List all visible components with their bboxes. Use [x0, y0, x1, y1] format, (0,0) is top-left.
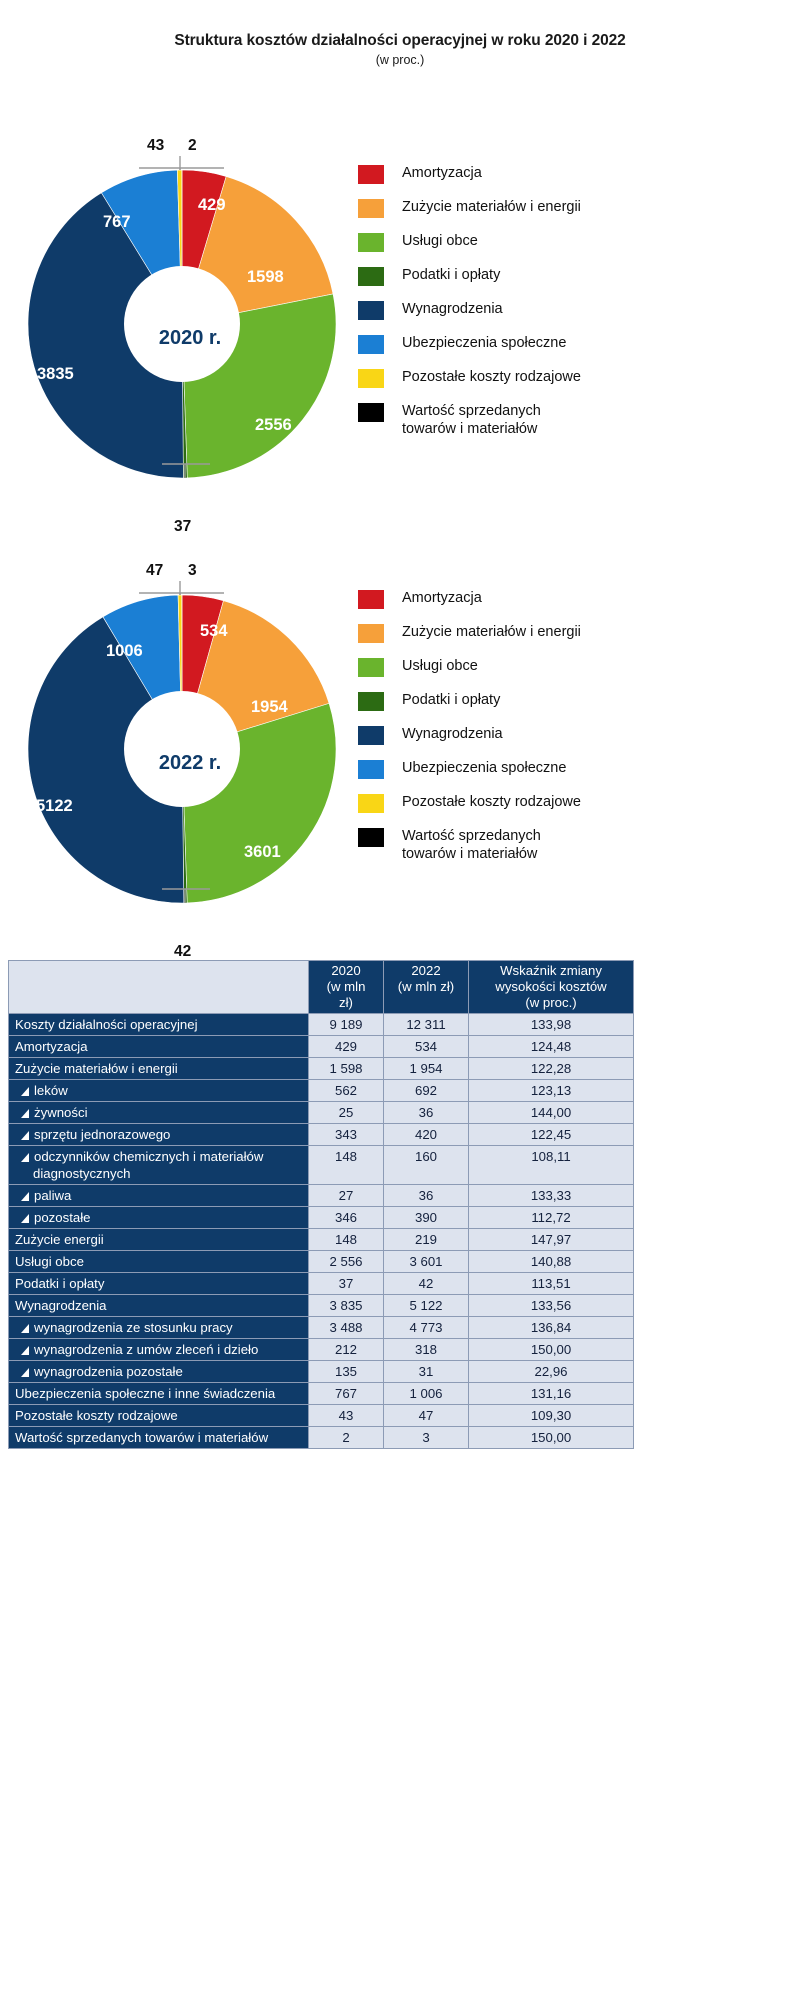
table-cell-2022: 219: [384, 1229, 469, 1251]
table-cell-2020: 37: [309, 1273, 384, 1295]
table-header-2022-line1: 2022: [390, 963, 462, 979]
table-cell-2020: 9 189: [309, 1014, 384, 1036]
legend-2022: Amortyzacja Zużycie materiałów i energii…: [358, 589, 788, 874]
bullet-triangle-icon: [21, 1087, 29, 1096]
table-header-blank: [9, 961, 309, 1014]
legend-swatch-ubezpieczenia-icon: [358, 760, 384, 779]
legend-item-uslugi-obce-2022[interactable]: Usługi obce: [358, 657, 788, 680]
page-title: Struktura kosztów działalności operacyjn…: [0, 32, 800, 67]
legend-swatch-uslugi-obce-icon: [358, 233, 384, 252]
legend-swatch-podatki-icon: [358, 267, 384, 286]
legend-label-wartosc: Wartość sprzedanych towarów i materiałów: [402, 402, 572, 438]
table-cell-label: pozostałe: [9, 1207, 309, 1229]
bullet-triangle-icon: [21, 1324, 29, 1333]
table-cell-2020: 2: [309, 1427, 384, 1449]
table-header-index-line2: wysokości kosztów: [475, 979, 627, 995]
table-header-index-line3: (w proc.): [475, 995, 627, 1011]
table-cell-2020: 346: [309, 1207, 384, 1229]
legend-item-wartosc-2022[interactable]: Wartość sprzedanych towarów i materiałów: [358, 827, 788, 863]
legend-item-wynagrodzenia[interactable]: Wynagrodzenia: [358, 300, 788, 323]
slice-value-ubezpieczenia-2022: 1006: [106, 642, 143, 661]
table-cell-2020: 767: [309, 1383, 384, 1405]
legend-swatch-pozostale-icon: [358, 369, 384, 388]
table-cell-index: 122,45: [469, 1124, 634, 1146]
legend-label-wynagrodzenia-2022: Wynagrodzenia: [402, 725, 503, 743]
table-cell-label: Usługi obce: [9, 1251, 309, 1273]
callout-value-wartosc-2022: 3: [188, 562, 197, 580]
table-cell-label: odczynników chemicznych i materiałów dia…: [9, 1146, 309, 1185]
table-cell-2022: 12 311: [384, 1014, 469, 1036]
table-cell-label: wynagrodzenia ze stosunku pracy: [9, 1317, 309, 1339]
table-header-2022-line2: (w mln zł): [390, 979, 462, 995]
table-cell-index: 109,30: [469, 1405, 634, 1427]
legend-label-ubezpieczenia-2022: Ubezpieczenia społeczne: [402, 759, 566, 777]
legend-swatch-amortyzacja-icon: [358, 590, 384, 609]
table-cell-label: Podatki i opłaty: [9, 1273, 309, 1295]
table-row: pozostałe346390112,72: [9, 1207, 634, 1229]
table-row: żywności2536144,00: [9, 1102, 634, 1124]
legend-label-podatki: Podatki i opłaty: [402, 266, 500, 284]
table-cell-label: żywności: [9, 1102, 309, 1124]
donut-svg-2022: [22, 559, 342, 903]
table-header-2020: 2020 (w mln zł): [309, 961, 384, 1014]
table-row: Wartość sprzedanych towarów i materiałów…: [9, 1427, 634, 1449]
table-cell-label: sprzętu jednorazowego: [9, 1124, 309, 1146]
legend-label-zuzycie: Zużycie materiałów i energii: [402, 198, 581, 216]
table-cell-2020: 43: [309, 1405, 384, 1427]
table-cell-2022: 390: [384, 1207, 469, 1229]
legend-item-pozostale[interactable]: Pozostałe koszty rodzajowe: [358, 368, 788, 391]
table-cell-2022: 42: [384, 1273, 469, 1295]
table-cell-2022: 3 601: [384, 1251, 469, 1273]
legend-item-amortyzacja-2022[interactable]: Amortyzacja: [358, 589, 788, 612]
legend-item-zuzycie-2022[interactable]: Zużycie materiałów i energii: [358, 623, 788, 646]
table-cell-2022: 318: [384, 1339, 469, 1361]
table-cell-index: 144,00: [469, 1102, 634, 1124]
table-row: Ubezpieczenia społeczne i inne świadczen…: [9, 1383, 634, 1405]
table-cell-2020: 212: [309, 1339, 384, 1361]
table-cell-index: 131,16: [469, 1383, 634, 1405]
table-header-2020-line1: 2020: [315, 963, 377, 979]
table-cell-2020: 343: [309, 1124, 384, 1146]
table-cell-2020: 3 835: [309, 1295, 384, 1317]
legend-label-pozostale-2022: Pozostałe koszty rodzajowe: [402, 793, 581, 811]
donut-chart-2020: 2020 r. 429 1598 2556 3835 767 43 2 37 A…: [0, 96, 800, 516]
legend-swatch-wartosc-icon: [358, 403, 384, 422]
chart-title-subtitle: (w proc.): [0, 53, 800, 67]
table-cell-label: paliwa: [9, 1185, 309, 1207]
table-row: Usługi obce2 5563 601140,88: [9, 1251, 634, 1273]
table-cell-2022: 692: [384, 1080, 469, 1102]
table-row: sprzętu jednorazowego343420122,45: [9, 1124, 634, 1146]
legend-swatch-uslugi-obce-icon: [358, 658, 384, 677]
table-cell-2020: 25: [309, 1102, 384, 1124]
callout-value-podatki-2022: 42: [174, 943, 191, 961]
slice-value-zuzycie-2020: 1598: [247, 268, 284, 287]
cost-table-wrap: 2020 (w mln zł) 2022 (w mln zł) Wskaźnik…: [8, 960, 792, 1449]
slice-value-amortyzacja-2022: 534: [200, 622, 228, 641]
legend-label-zuzycie-2022: Zużycie materiałów i energii: [402, 623, 581, 641]
legend-label-amortyzacja: Amortyzacja: [402, 164, 482, 182]
donut-hole-2022: [124, 691, 240, 807]
legend-label-amortyzacja-2022: Amortyzacja: [402, 589, 482, 607]
table-cell-label: Zużycie materiałów i energii: [9, 1058, 309, 1080]
table-header-index-line1: Wskaźnik zmiany: [475, 963, 627, 979]
legend-item-ubezpieczenia-2022[interactable]: Ubezpieczenia społeczne: [358, 759, 788, 782]
bullet-triangle-icon: [21, 1192, 29, 1201]
table-row: Podatki i opłaty3742113,51: [9, 1273, 634, 1295]
table-cell-2020: 562: [309, 1080, 384, 1102]
bullet-triangle-icon: [21, 1131, 29, 1140]
legend-swatch-wartosc-icon: [358, 828, 384, 847]
legend-label-uslugi-obce: Usługi obce: [402, 232, 478, 250]
table-header-row: 2020 (w mln zł) 2022 (w mln zł) Wskaźnik…: [9, 961, 634, 1014]
table-cell-label: Zużycie energii: [9, 1229, 309, 1251]
bullet-triangle-icon: [21, 1214, 29, 1223]
table-cell-2020: 148: [309, 1229, 384, 1251]
legend-swatch-wynagrodzenia-icon: [358, 301, 384, 320]
table-row: Zużycie materiałów i energii1 5981 95412…: [9, 1058, 634, 1080]
bullet-triangle-icon: [21, 1368, 29, 1377]
donut-wrap-2022: 2022 r. 534 1954 3601 5122 1006 47 3 42: [22, 559, 342, 903]
table-row: wynagrodzenia ze stosunku pracy3 4884 77…: [9, 1317, 634, 1339]
bullet-triangle-icon: [21, 1346, 29, 1355]
table-cell-2022: 3: [384, 1427, 469, 1449]
slice-value-wynagrodzenia-2022: 5122: [36, 797, 73, 816]
legend-swatch-podatki-icon: [358, 692, 384, 711]
callout-value-pozostale-2022: 47: [146, 562, 163, 580]
table-row: wynagrodzenia pozostałe1353122,96: [9, 1361, 634, 1383]
table-cell-2022: 5 122: [384, 1295, 469, 1317]
legend-swatch-zuzycie-icon: [358, 624, 384, 643]
table-cell-label: Pozostałe koszty rodzajowe: [9, 1405, 309, 1427]
callout-value-pozostale-2020: 43: [147, 137, 164, 155]
slice-value-wynagrodzenia-2020: 3835: [37, 365, 74, 384]
legend-label-podatki-2022: Podatki i opłaty: [402, 691, 500, 709]
table-row: Amortyzacja429534124,48: [9, 1036, 634, 1058]
table-cell-2020: 27: [309, 1185, 384, 1207]
callout-leader-line: [139, 593, 224, 595]
table-row: Pozostałe koszty rodzajowe4347109,30: [9, 1405, 634, 1427]
table-cell-index: 108,11: [469, 1146, 634, 1185]
table-row: wynagrodzenia z umów zleceń i dzieło2123…: [9, 1339, 634, 1361]
table-cell-2020: 2 556: [309, 1251, 384, 1273]
slice-value-amortyzacja-2020: 429: [198, 196, 226, 215]
bullet-triangle-icon: [21, 1109, 29, 1118]
table-cell-index: 133,56: [469, 1295, 634, 1317]
cost-table-body: Koszty działalności operacyjnej9 18912 3…: [9, 1014, 634, 1449]
donut-chart-2022: 2022 r. 534 1954 3601 5122 1006 47 3 42 …: [0, 521, 800, 941]
table-cell-index: 113,51: [469, 1273, 634, 1295]
table-cell-2022: 36: [384, 1102, 469, 1124]
donut-svg-2020: [22, 134, 342, 478]
table-header-2020-line2: (w mln: [315, 979, 377, 995]
table-cell-label: wynagrodzenia z umów zleceń i dzieło: [9, 1339, 309, 1361]
table-header-index: Wskaźnik zmiany wysokości kosztów (w pro…: [469, 961, 634, 1014]
table-cell-index: 140,88: [469, 1251, 634, 1273]
table-cell-2022: 4 773: [384, 1317, 469, 1339]
legend-item-podatki-2022[interactable]: Podatki i opłaty: [358, 691, 788, 714]
table-cell-label: Wartość sprzedanych towarów i materiałów: [9, 1427, 309, 1449]
table-cell-index: 150,00: [469, 1427, 634, 1449]
table-cell-label: wynagrodzenia pozostałe: [9, 1361, 309, 1383]
legend-item-podatki[interactable]: Podatki i opłaty: [358, 266, 788, 289]
slice-value-zuzycie-2022: 1954: [251, 698, 288, 717]
legend-label-uslugi-obce-2022: Usługi obce: [402, 657, 478, 675]
table-cell-index: 112,72: [469, 1207, 634, 1229]
slice-value-uslugi-obce-2022: 3601: [244, 843, 281, 862]
bullet-triangle-icon: [21, 1153, 29, 1162]
slice-value-uslugi-obce-2020: 2556: [255, 416, 292, 435]
legend-swatch-wynagrodzenia-icon: [358, 726, 384, 745]
table-cell-2020: 3 488: [309, 1317, 384, 1339]
table-cell-2020: 148: [309, 1146, 384, 1185]
table-cell-index: 150,00: [469, 1339, 634, 1361]
table-cell-label: Amortyzacja: [9, 1036, 309, 1058]
table-cell-2022: 534: [384, 1036, 469, 1058]
table-cell-index: 133,98: [469, 1014, 634, 1036]
table-cell-index: 133,33: [469, 1185, 634, 1207]
legend-item-ubezpieczenia[interactable]: Ubezpieczenia społeczne: [358, 334, 788, 357]
legend-label-ubezpieczenia: Ubezpieczenia społeczne: [402, 334, 566, 352]
table-cell-index: 122,28: [469, 1058, 634, 1080]
legend-swatch-zuzycie-icon: [358, 199, 384, 218]
table-row: Zużycie energii148219147,97: [9, 1229, 634, 1251]
table-row: Koszty działalności operacyjnej9 18912 3…: [9, 1014, 634, 1036]
legend-item-zuzycie[interactable]: Zużycie materiałów i energii: [358, 198, 788, 221]
donut-hole-2020: [124, 266, 240, 382]
slice-value-ubezpieczenia-2020: 767: [103, 213, 131, 232]
table-cell-label: Ubezpieczenia społeczne i inne świadczen…: [9, 1383, 309, 1405]
table-cell-2022: 1 954: [384, 1058, 469, 1080]
legend-swatch-pozostale-icon: [358, 794, 384, 813]
table-header-2022: 2022 (w mln zł): [384, 961, 469, 1014]
legend-item-pozostale-2022[interactable]: Pozostałe koszty rodzajowe: [358, 793, 788, 816]
legend-2020: Amortyzacja Zużycie materiałów i energii…: [358, 164, 788, 449]
legend-item-wartosc[interactable]: Wartość sprzedanych towarów i materiałów: [358, 402, 788, 438]
legend-item-uslugi-obce[interactable]: Usługi obce: [358, 232, 788, 255]
table-cell-label: Wynagrodzenia: [9, 1295, 309, 1317]
table-cell-2022: 420: [384, 1124, 469, 1146]
table-cell-2022: 160: [384, 1146, 469, 1185]
callout-leader-line: [139, 168, 224, 170]
cost-table: 2020 (w mln zł) 2022 (w mln zł) Wskaźnik…: [8, 960, 634, 1449]
table-cell-2022: 31: [384, 1361, 469, 1383]
cost-table-head: 2020 (w mln zł) 2022 (w mln zł) Wskaźnik…: [9, 961, 634, 1014]
table-cell-2022: 36: [384, 1185, 469, 1207]
legend-label-wartosc-2022: Wartość sprzedanych towarów i materiałów: [402, 827, 572, 863]
table-cell-2022: 47: [384, 1405, 469, 1427]
table-cell-2020: 135: [309, 1361, 384, 1383]
legend-item-amortyzacja[interactable]: Amortyzacja: [358, 164, 788, 187]
legend-swatch-ubezpieczenia-icon: [358, 335, 384, 354]
table-cell-label: Koszty działalności operacyjnej: [9, 1014, 309, 1036]
table-row: odczynników chemicznych i materiałów dia…: [9, 1146, 634, 1185]
callout-value-wartosc-2020: 2: [188, 137, 197, 155]
table-cell-2022: 1 006: [384, 1383, 469, 1405]
table-row: leków562692123,13: [9, 1080, 634, 1102]
table-cell-index: 123,13: [469, 1080, 634, 1102]
table-cell-index: 147,97: [469, 1229, 634, 1251]
legend-label-pozostale: Pozostałe koszty rodzajowe: [402, 368, 581, 386]
table-header-2020-line3: zł): [315, 995, 377, 1011]
legend-item-wynagrodzenia-2022[interactable]: Wynagrodzenia: [358, 725, 788, 748]
legend-label-wynagrodzenia: Wynagrodzenia: [402, 300, 503, 318]
table-cell-2020: 429: [309, 1036, 384, 1058]
table-cell-index: 124,48: [469, 1036, 634, 1058]
donut-wrap-2020: 2020 r. 429 1598 2556 3835 767 43 2 37: [22, 134, 342, 478]
table-cell-2020: 1 598: [309, 1058, 384, 1080]
table-cell-label: leków: [9, 1080, 309, 1102]
table-cell-index: 22,96: [469, 1361, 634, 1383]
chart-title-main: Struktura kosztów działalności operacyjn…: [0, 32, 800, 50]
legend-swatch-amortyzacja-icon: [358, 165, 384, 184]
table-cell-index: 136,84: [469, 1317, 634, 1339]
table-row: paliwa2736133,33: [9, 1185, 634, 1207]
table-row: Wynagrodzenia3 8355 122133,56: [9, 1295, 634, 1317]
